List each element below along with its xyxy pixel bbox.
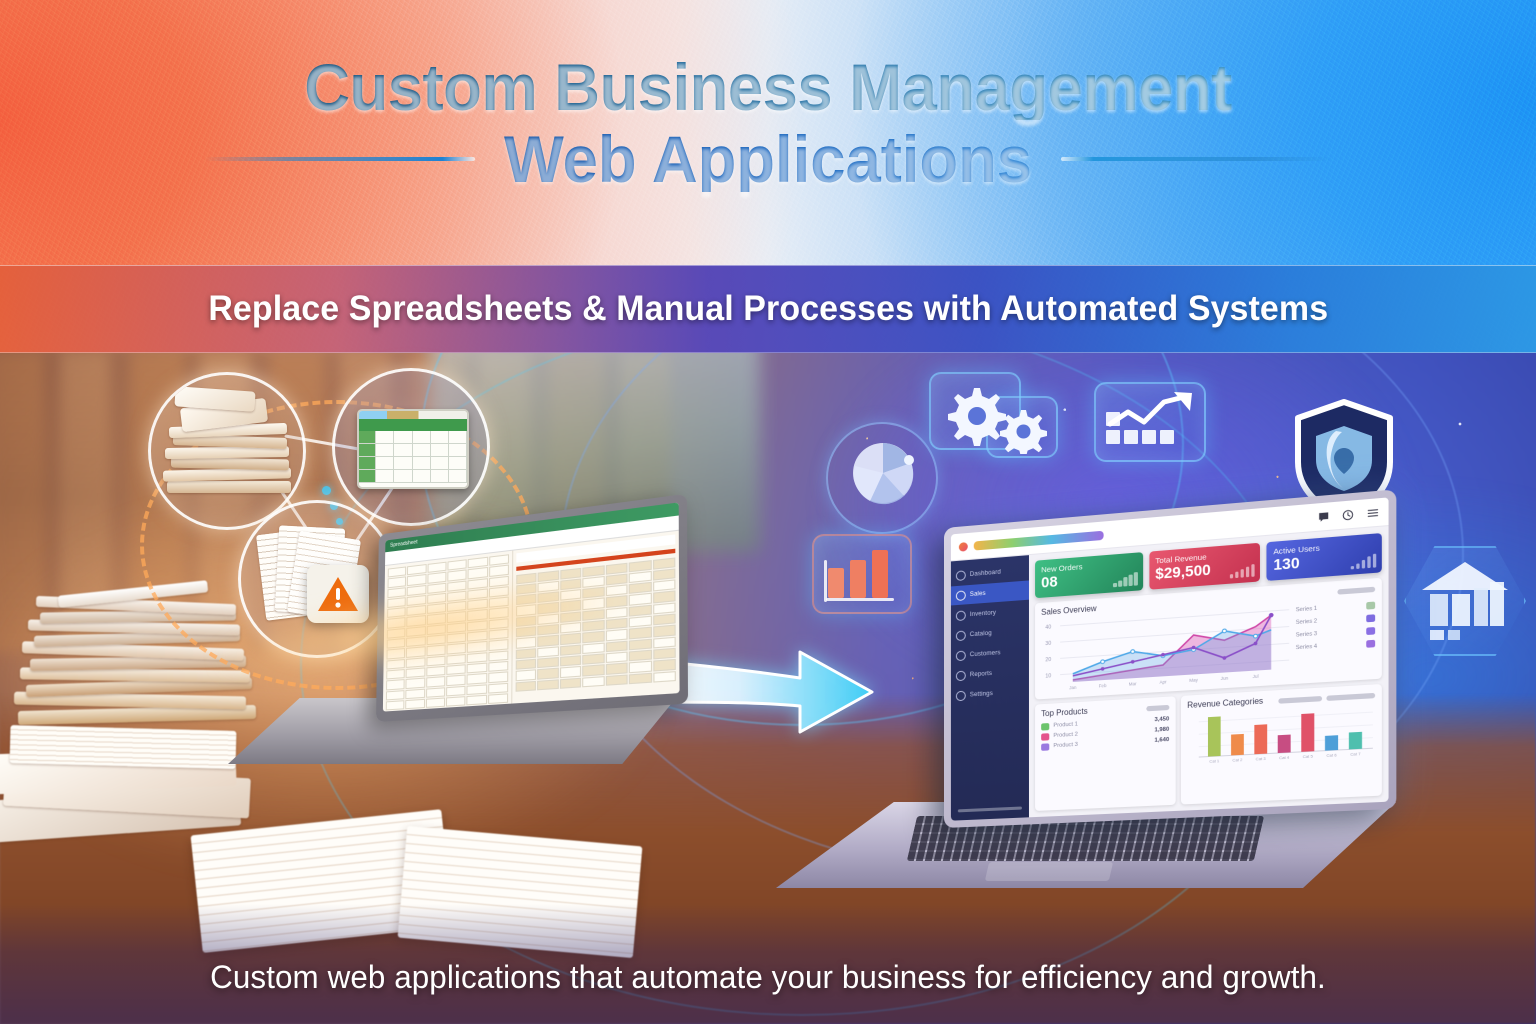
dashboard-bottom-row: Top Products Product 1 3,450	[1035, 683, 1382, 811]
product-value: 1,980	[1155, 727, 1170, 734]
product-color-chip	[1041, 733, 1049, 741]
growth-chart-icon	[1102, 390, 1196, 457]
top-products-panel: Top Products Product 1 3,450	[1035, 696, 1175, 811]
spreadsheet-right-grid	[511, 531, 679, 705]
panel-action-placeholder[interactable]	[1146, 704, 1169, 710]
sales-overview-panel: Sales Overview	[1035, 577, 1382, 699]
svg-text:Cat 5: Cat 5	[1303, 754, 1313, 759]
laptop-lid-right: Dashboard Sales Inventory Catalog Custom…	[944, 489, 1396, 828]
chart-icon	[956, 670, 966, 681]
sidebar-label: Dashboard	[970, 568, 1001, 577]
title-divider-right	[1061, 157, 1331, 161]
dashboard-content: New Orders 08 Total Revenue $29,500 Acti…	[1029, 526, 1389, 817]
laptop-lid-left: Spreadsheet	[376, 494, 688, 722]
svg-text:Cat 1: Cat 1	[1209, 759, 1219, 764]
sidebar-label: Inventory	[970, 609, 996, 618]
spreadsheet-left-grid	[383, 551, 512, 712]
sidebar-footer	[951, 800, 1029, 821]
svg-text:Jan: Jan	[1069, 684, 1077, 690]
kpi-sparkline	[1113, 572, 1137, 587]
sidebar-label: Sales	[970, 590, 986, 598]
sidebar-label: Catalog	[970, 630, 992, 639]
tag-icon	[956, 630, 966, 641]
laptop-spreadsheet: Spreadsheet	[228, 532, 676, 764]
product-name: Product 3	[1053, 742, 1077, 749]
kpi-sparkline	[1230, 562, 1255, 577]
svg-text:40: 40	[1045, 624, 1051, 630]
sidebar-item-settings[interactable]: Settings	[951, 682, 1029, 706]
box-icon	[956, 610, 966, 621]
product-value: 1,640	[1155, 737, 1170, 744]
svg-text:30: 30	[1045, 640, 1051, 646]
legend-label: Series 2	[1296, 618, 1317, 626]
kpi-sparkline	[1350, 553, 1376, 569]
spreadsheet-app-title: Spreadsheet	[390, 539, 417, 548]
product-color-chip	[1041, 743, 1049, 751]
sidebar-label: Settings	[970, 690, 993, 698]
svg-text:10: 10	[1045, 673, 1051, 679]
paper-page	[398, 826, 643, 958]
kpi-card-active-users[interactable]: Active Users 130	[1267, 533, 1382, 580]
sidebar-label: Customers	[970, 649, 1001, 658]
svg-text:Cat 4: Cat 4	[1279, 755, 1289, 760]
users-icon	[956, 650, 966, 661]
svg-text:20: 20	[1045, 656, 1051, 662]
footer-caption: Custom web applications that automate yo…	[15, 959, 1520, 996]
title-divider-left	[205, 157, 475, 161]
svg-text:Cat 3: Cat 3	[1256, 756, 1266, 761]
subtitle-text: Replace Spreadsheets & Manual Processes …	[208, 289, 1328, 329]
panel-action-placeholder[interactable]	[1278, 695, 1322, 703]
legend-item: Series 3	[1296, 626, 1375, 639]
spreadsheet-screen: Spreadsheet	[383, 502, 680, 711]
sales-chart-legend: Series 1 Series 2 Series 3 Series 4	[1296, 595, 1375, 678]
kpi-card-total-revenue[interactable]: Total Revenue $29,500	[1149, 543, 1260, 589]
legend-item: Series 4	[1296, 639, 1375, 652]
database-icon	[1418, 558, 1512, 647]
svg-text:Cat 6: Cat 6	[1326, 753, 1336, 758]
svg-text:Jul: Jul	[1253, 673, 1259, 679]
svg-text:Feb: Feb	[1099, 682, 1107, 688]
svg-text:May: May	[1189, 677, 1199, 683]
hero-banner: Custom Business Management Web Applicati…	[0, 0, 1536, 1024]
app-logo-wordmark	[974, 530, 1104, 550]
top-products-title: Top Products	[1041, 706, 1088, 718]
gear-icon	[956, 690, 966, 701]
svg-text:Apr: Apr	[1159, 679, 1167, 685]
panel-action-placeholder[interactable]	[1326, 692, 1375, 700]
svg-text:Mar: Mar	[1129, 681, 1137, 687]
legend-item: Series 2	[1296, 614, 1375, 627]
legend-item: Series 1	[1296, 601, 1375, 614]
spreadsheet-grid-icon	[357, 409, 469, 489]
sidebar-label: Reports	[970, 670, 992, 678]
title-line-1: Custom Business Management	[31, 54, 1506, 120]
svg-text:Jun: Jun	[1221, 675, 1229, 681]
cart-icon	[956, 590, 966, 601]
pie-chart-icon	[846, 436, 920, 515]
dashboard-sidebar: Dashboard Sales Inventory Catalog Custom…	[951, 555, 1029, 821]
svg-text:Cat 2: Cat 2	[1232, 758, 1242, 763]
svg-text:Cat 7: Cat 7	[1350, 752, 1360, 757]
connector-dot	[322, 486, 331, 495]
legend-color-chip	[1366, 601, 1375, 609]
product-name: Product 1	[1053, 721, 1077, 728]
menu-icon[interactable]	[1366, 506, 1379, 519]
legend-label: Series 4	[1296, 644, 1317, 652]
legend-label: Series 3	[1296, 631, 1317, 639]
product-color-chip	[1041, 723, 1049, 731]
page-title: Custom Business Management Web Applicati…	[0, 54, 1536, 192]
laptop-dashboard: Dashboard Sales Inventory Catalog Custom…	[776, 528, 1396, 888]
legend-color-chip	[1366, 626, 1375, 634]
kpi-card-new-orders[interactable]: New Orders 08	[1035, 552, 1143, 598]
product-name: Product 2	[1053, 732, 1077, 739]
subtitle-band: Replace Spreadsheets & Manual Processes …	[0, 265, 1536, 353]
clock-icon[interactable]	[1342, 508, 1354, 521]
chat-icon[interactable]	[1318, 510, 1330, 523]
app-logo-icon	[959, 542, 968, 552]
gears-icon	[938, 378, 1050, 459]
legend-label: Series 1	[1296, 606, 1317, 614]
panel-action-placeholder[interactable]	[1337, 586, 1375, 594]
trackpad	[985, 862, 1113, 881]
grid-icon	[956, 570, 966, 581]
dashboard-screen: Dashboard Sales Inventory Catalog Custom…	[951, 497, 1389, 820]
title-line-2: Web Applications	[504, 126, 1032, 192]
dashboard-main: Dashboard Sales Inventory Catalog Custom…	[951, 526, 1389, 821]
revenue-categories-panel: Revenue Categories	[1181, 683, 1382, 804]
legend-color-chip	[1366, 614, 1375, 622]
legend-color-chip	[1366, 639, 1375, 647]
product-value: 3,450	[1155, 716, 1170, 723]
revenue-bar-chart: Cat 1Cat 2Cat 3 Cat 4Cat 5Cat 6Cat 7	[1187, 701, 1375, 766]
